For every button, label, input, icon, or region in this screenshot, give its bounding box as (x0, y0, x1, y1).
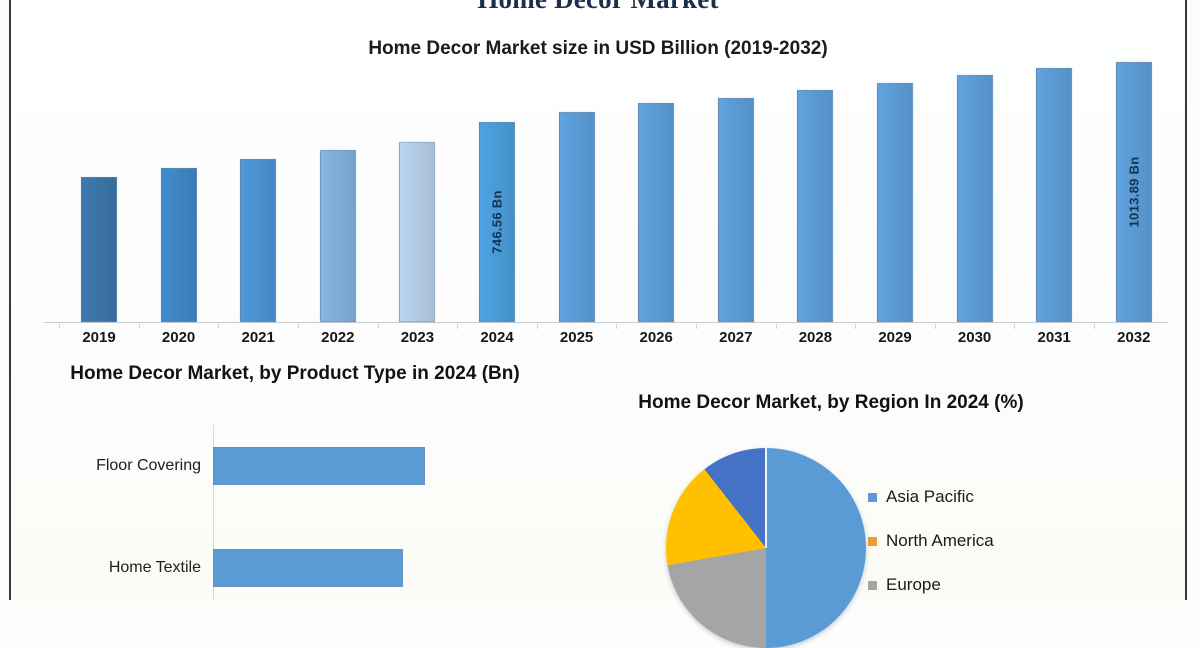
bar-value-2032: 1013.89 Bn (1126, 157, 1141, 228)
x-axis-label-2022: 2022 (298, 329, 378, 346)
x-axis-label-2028: 2028 (775, 329, 855, 346)
bar-2021 (240, 159, 276, 322)
product-type-bar-chart: Home Decor Market, by Product Type in 20… (25, 355, 570, 600)
bar-2031 (1036, 68, 1072, 322)
bar-2025 (559, 112, 595, 322)
product-label-home-textile: Home Textile (25, 559, 201, 577)
bar-value-2024: 746.56 Bn (490, 190, 505, 253)
x-axis-label-2031: 2031 (1014, 329, 1094, 346)
x-axis-tick-2026 (616, 322, 617, 329)
x-axis-tick-2032 (1094, 322, 1095, 329)
region-pie-chart: Home Decor Market, by Region In 2024 (%)… (571, 385, 1185, 600)
legend-item-asia-pacific[interactable]: Asia Pacific (868, 475, 1168, 519)
pie-divider-line (765, 448, 767, 548)
legend-swatch-icon (868, 581, 877, 590)
infographic-canvas: Home Decor Market Home Decor Market size… (11, 0, 1185, 600)
legend-item-europe[interactable]: Europe (868, 563, 1168, 607)
legend-swatch-icon (868, 493, 877, 502)
page-title: Home Decor Market (11, 0, 1185, 15)
market-size-bar-chart: Home Decor Market size in USD Billion (2… (11, 30, 1185, 340)
legend-label: Asia Pacific (886, 487, 974, 507)
x-axis-tick-2019 (59, 322, 60, 329)
frame-border-right (1185, 0, 1187, 600)
bar-2020 (161, 168, 197, 322)
x-axis-label-2025: 2025 (537, 329, 617, 346)
bar-2029 (877, 83, 913, 322)
bar-2019 (81, 177, 117, 322)
bar-2027 (718, 98, 754, 322)
x-axis-label-2032: 2032 (1094, 329, 1174, 346)
x-axis-tick-2031 (1014, 322, 1015, 329)
bar-2022 (320, 150, 356, 322)
x-axis-label-2026: 2026 (616, 329, 696, 346)
frame-border-left (9, 0, 11, 600)
product-label-floor-covering: Floor Covering (25, 457, 201, 475)
bar-2026 (638, 103, 674, 322)
x-axis-tick-2023 (378, 322, 379, 329)
legend-item-north-america[interactable]: North America (868, 519, 1168, 563)
x-axis-tick-2021 (218, 322, 219, 329)
bar-2024: 746.56 Bn (479, 122, 515, 322)
bar-chart-title: Home Decor Market size in USD Billion (2… (11, 38, 1185, 60)
bar-2032: 1013.89 Bn (1116, 62, 1152, 322)
region-legend: Asia PacificNorth AmericaEurope (868, 475, 1168, 607)
region-chart-title: Home Decor Market, by Region In 2024 (%) (591, 389, 1071, 416)
x-axis-tick-2025 (537, 322, 538, 329)
x-axis-tick-2027 (696, 322, 697, 329)
x-axis-label-2027: 2027 (696, 329, 776, 346)
bar-2028 (797, 90, 833, 322)
x-axis-label-2023: 2023 (377, 329, 457, 346)
product-bar-home-textile (213, 549, 403, 587)
x-axis-label-2030: 2030 (935, 329, 1015, 346)
bar-2030 (957, 75, 993, 322)
product-bar-floor-covering (213, 447, 425, 485)
legend-label: Europe (886, 575, 941, 595)
x-axis-tick-2024 (457, 322, 458, 329)
x-axis-tick-2030 (935, 322, 936, 329)
x-axis-tick-2028 (776, 322, 777, 329)
bar-2023 (399, 142, 435, 322)
x-axis-label-2020: 2020 (139, 329, 219, 346)
product-chart-title: Home Decor Market, by Product Type in 20… (35, 361, 555, 387)
bar-chart-plot-area (44, 72, 1164, 322)
x-axis-label-2021: 2021 (218, 329, 298, 346)
legend-swatch-icon (868, 537, 877, 546)
x-axis-label-2019: 2019 (59, 329, 139, 346)
legend-label: North America (886, 531, 994, 551)
bar-chart-axis-line (44, 322, 1168, 323)
x-axis-tick-2029 (855, 322, 856, 329)
x-axis-label-2024: 2024 (457, 329, 537, 346)
x-axis-label-2029: 2029 (855, 329, 935, 346)
x-axis-tick-2020 (139, 322, 140, 329)
x-axis-tick-2022 (298, 322, 299, 329)
